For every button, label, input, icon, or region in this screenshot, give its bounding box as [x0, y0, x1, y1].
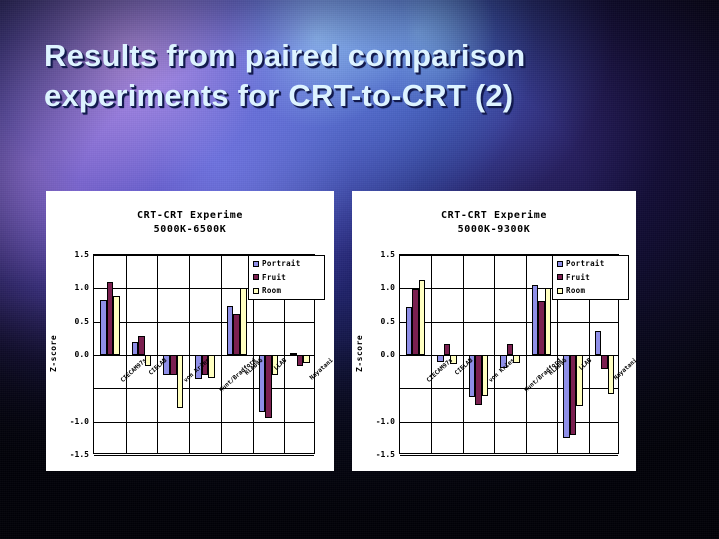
y-axis-tick-label: -1.5	[369, 450, 395, 459]
bar	[507, 344, 514, 355]
y-axis-tick-label: -1.5	[63, 450, 89, 459]
slide-title: Results from paired comparison experimen…	[44, 36, 672, 117]
gridline-horizontal	[400, 388, 618, 389]
bar	[482, 355, 489, 396]
legend-swatch-icon	[557, 288, 563, 294]
y-axis-tick-label: -1.0	[63, 417, 89, 426]
y-axis-tick-label: 1.5	[369, 250, 395, 259]
legend-label: Room	[262, 287, 281, 295]
chart-title: CRT-CRT Experime 5000K-6500K	[46, 209, 334, 237]
legend-swatch-icon	[253, 274, 259, 280]
legend-label: Room	[566, 287, 585, 295]
bar	[227, 306, 234, 355]
gridline-horizontal	[94, 388, 314, 389]
chart-panel-left: CRT-CRT Experime 5000K-6500K1.51.00.50.0…	[46, 191, 334, 471]
slide: Results from paired comparison experimen…	[0, 0, 719, 539]
legend-item: Fruit	[557, 274, 623, 282]
bar	[138, 336, 145, 355]
gridline-vertical	[157, 255, 158, 453]
bar	[444, 344, 451, 355]
legend-label: Fruit	[262, 274, 286, 282]
y-axis-tick-label: 1.0	[369, 283, 395, 292]
y-axis-tick-label: 0.0	[369, 350, 395, 359]
legend-item: Fruit	[253, 274, 319, 282]
y-axis-title: Z-score	[49, 335, 58, 372]
legend-label: Fruit	[566, 274, 590, 282]
legend-item: Portrait	[253, 260, 319, 268]
y-axis-tick-label: 1.5	[63, 250, 89, 259]
zero-axis-line	[400, 355, 618, 356]
gridline-vertical	[431, 255, 432, 453]
bar	[100, 300, 107, 355]
gridline-vertical	[221, 255, 222, 453]
gridline-horizontal	[400, 422, 618, 423]
bar	[177, 355, 184, 408]
gridline-vertical	[494, 255, 495, 453]
gridline-vertical	[526, 255, 527, 453]
bar	[303, 355, 310, 363]
chart-legend: PortraitFruitRoom	[248, 255, 325, 300]
bar	[595, 331, 602, 355]
y-axis-tick-label: -1.0	[369, 417, 395, 426]
bar	[419, 280, 426, 355]
chart-title: CRT-CRT Experime 5000K-9300K	[352, 209, 636, 237]
gridline-horizontal	[400, 322, 618, 323]
y-axis-tick-label: 0.0	[63, 350, 89, 359]
gridline-horizontal	[94, 422, 314, 423]
gridline-vertical	[189, 255, 190, 453]
gridline-horizontal	[94, 322, 314, 323]
bar	[545, 288, 552, 355]
chart-legend: PortraitFruitRoom	[552, 255, 629, 300]
legend-item: Room	[253, 287, 319, 295]
legend-swatch-icon	[253, 288, 259, 294]
bar	[265, 355, 272, 418]
legend-label: Portrait	[262, 260, 301, 268]
gridline-horizontal	[400, 455, 618, 456]
y-axis-tick-label: 0.5	[369, 317, 395, 326]
chart-panel-right: CRT-CRT Experime 5000K-9300K1.51.00.50.0…	[352, 191, 636, 471]
legend-swatch-icon	[557, 274, 563, 280]
legend-swatch-icon	[557, 261, 563, 267]
bar	[113, 296, 120, 355]
gridline-vertical	[463, 255, 464, 453]
gridline-vertical	[126, 255, 127, 453]
y-axis-title: Z-score	[355, 335, 364, 372]
y-axis-tick-label: 0.5	[63, 317, 89, 326]
y-axis-tick-label: 1.0	[63, 283, 89, 292]
gridline-horizontal	[94, 455, 314, 456]
legend-label: Portrait	[566, 260, 605, 268]
legend-item: Room	[557, 287, 623, 295]
bar	[240, 288, 247, 355]
legend-swatch-icon	[253, 261, 259, 267]
zero-axis-line	[94, 355, 314, 356]
legend-item: Portrait	[557, 260, 623, 268]
